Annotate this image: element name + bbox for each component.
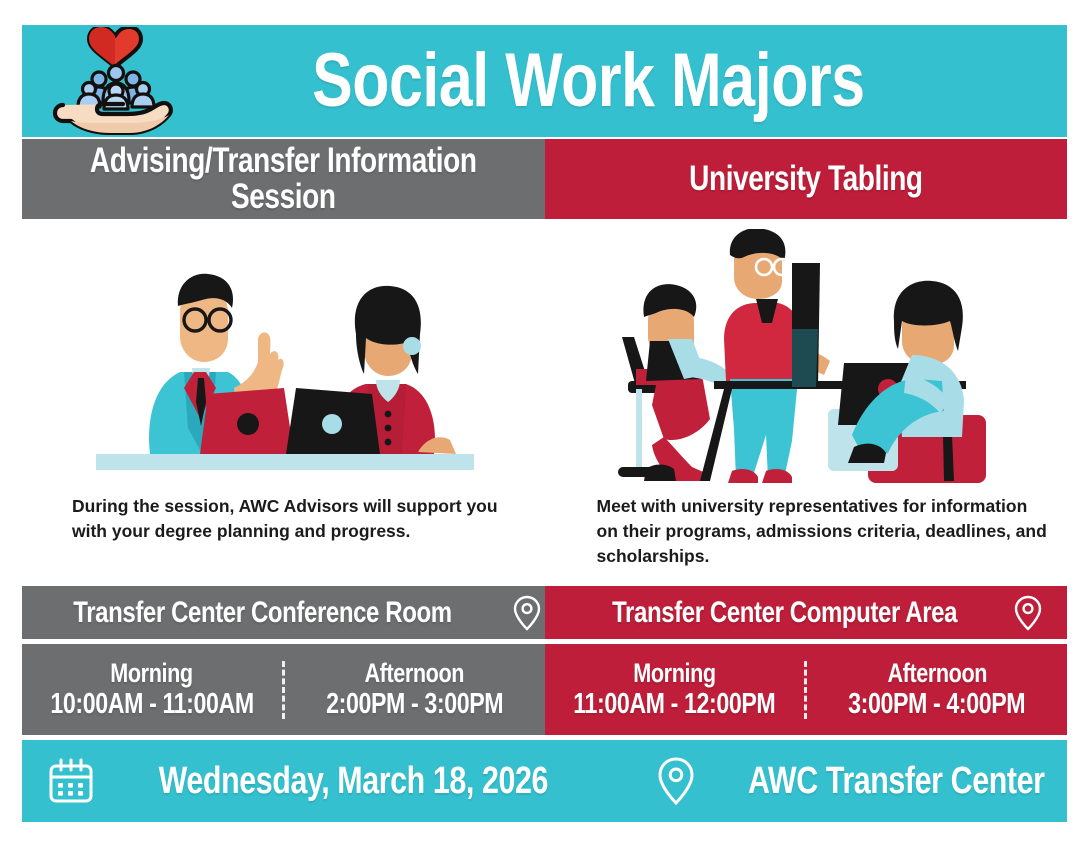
- description-advising: During the session, AWC Advisors will su…: [22, 494, 545, 582]
- time-panel-tabling: Morning 11:00AM - 12:00PM Afternoon 3:00…: [545, 644, 1068, 735]
- column-heading-tabling: University Tabling: [545, 139, 1068, 219]
- column-headings-row: Advising/Transfer Information Session Un…: [22, 139, 1067, 219]
- time-slot-divider: [804, 661, 807, 719]
- column-heading-advising-text: Advising/Transfer Information Session: [74, 143, 492, 214]
- description-tabling: Meet with university representatives for…: [545, 494, 1068, 582]
- illustrations-row: [22, 225, 1067, 487]
- map-pin-icon: [513, 595, 541, 631]
- column-heading-advising: Advising/Transfer Information Session: [22, 139, 545, 219]
- location-bar-advising: Transfer Center Conference Room: [22, 586, 545, 639]
- locations-row: Transfer Center Conference Room Transfer…: [22, 586, 1067, 639]
- hand-holding-people-heart-icon: [40, 26, 190, 136]
- time-slot-label: Morning: [111, 659, 193, 687]
- advisor-and-student-laptops-illustration: [22, 225, 545, 487]
- time-slot-tabling-afternoon: Afternoon 3:00PM - 4:00PM: [807, 659, 1067, 720]
- time-panel-advising: Morning 10:00AM - 11:00AM Afternoon 2:00…: [22, 644, 545, 735]
- time-slot-advising-afternoon: Afternoon 2:00PM - 3:00PM: [285, 659, 545, 720]
- footer-bar: Wednesday, March 18, 2026 AWC Transfer C…: [22, 740, 1067, 822]
- footer-date: Wednesday, March 18, 2026: [48, 758, 597, 804]
- map-pin-icon: [657, 756, 695, 806]
- time-slot-label: Afternoon: [887, 659, 987, 687]
- calendar-icon: [48, 758, 94, 804]
- time-slot-tabling-morning: Morning 11:00AM - 12:00PM: [545, 659, 805, 720]
- times-row: Morning 10:00AM - 11:00AM Afternoon 2:00…: [22, 644, 1067, 735]
- location-tabling-text: Transfer Center Computer Area: [612, 598, 957, 628]
- university-reps-tabling-illustration: [545, 225, 1068, 487]
- flyer-poster: Social Work Majors Advising/Transfer Inf…: [0, 0, 1090, 842]
- descriptions-row: During the session, AWC Advisors will su…: [22, 494, 1067, 582]
- footer-venue: AWC Transfer Center: [657, 756, 1082, 806]
- time-slot-time: 10:00AM - 11:00AM: [50, 689, 253, 719]
- location-advising-text: Transfer Center Conference Room: [73, 598, 451, 628]
- map-pin-icon: [1014, 595, 1042, 631]
- time-slot-time: 2:00PM - 3:00PM: [326, 689, 503, 719]
- page-title-text: Social Work Majors: [312, 43, 865, 119]
- time-slot-time: 3:00PM - 4:00PM: [849, 689, 1026, 719]
- column-heading-tabling-text: University Tabling: [689, 161, 922, 197]
- time-slot-label: Morning: [633, 659, 715, 687]
- time-slot-divider: [282, 661, 285, 719]
- description-advising-text: During the session, AWC Advisors will su…: [72, 494, 505, 544]
- time-slot-label: Afternoon: [365, 659, 465, 687]
- page-title: Social Work Majors: [190, 25, 1067, 137]
- footer-date-text: Wednesday, March 18, 2026: [159, 762, 548, 800]
- time-slot-time: 11:00AM - 12:00PM: [573, 689, 775, 719]
- footer-venue-text: AWC Transfer Center: [748, 762, 1044, 800]
- location-bar-tabling: Transfer Center Computer Area: [545, 586, 1068, 639]
- time-slot-advising-morning: Morning 10:00AM - 11:00AM: [22, 659, 282, 720]
- header-banner: Social Work Majors: [22, 25, 1067, 137]
- description-tabling-text: Meet with university representatives for…: [597, 494, 1050, 569]
